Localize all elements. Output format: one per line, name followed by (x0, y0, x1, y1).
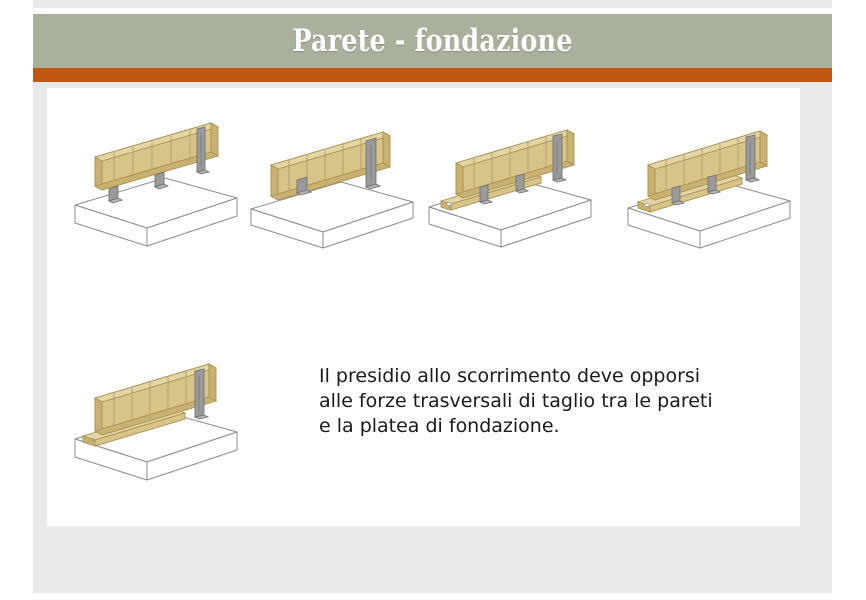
diagram-svg-2 (245, 110, 423, 250)
diagram-svg-4 (622, 110, 800, 250)
title-band: Parete - fondazione (33, 14, 832, 68)
figure-wall-foundation-detail-1 (69, 110, 247, 250)
page-title: Parete - fondazione (105, 14, 760, 68)
caption-line-1: Il presidio allo scorrimento deve oppors… (319, 364, 779, 389)
figure-row-bottom (69, 343, 269, 483)
diagram-svg-3 (423, 110, 601, 250)
top-gray-strip (33, 0, 832, 8)
figure-row-top (47, 110, 800, 250)
diagram-svg-5 (69, 343, 247, 483)
caption-line-2: alle forze trasversali di taglio tra le … (319, 389, 779, 414)
figure-wall-foundation-detail-3 (423, 110, 601, 250)
figure-wall-foundation-detail-4 (622, 110, 800, 250)
caption-line-3: e la platea di fondazione. (319, 414, 779, 439)
diagram-svg-1 (69, 110, 247, 250)
content-card: Il presidio allo scorrimento deve oppors… (47, 88, 800, 526)
accent-bar (33, 68, 832, 82)
caption-text: Il presidio allo scorrimento deve oppors… (319, 364, 779, 439)
figure-wall-foundation-detail-2 (245, 110, 423, 250)
slide-root: Parete - fondazione (0, 0, 866, 600)
figure-wall-foundation-detail-5 (69, 343, 247, 483)
